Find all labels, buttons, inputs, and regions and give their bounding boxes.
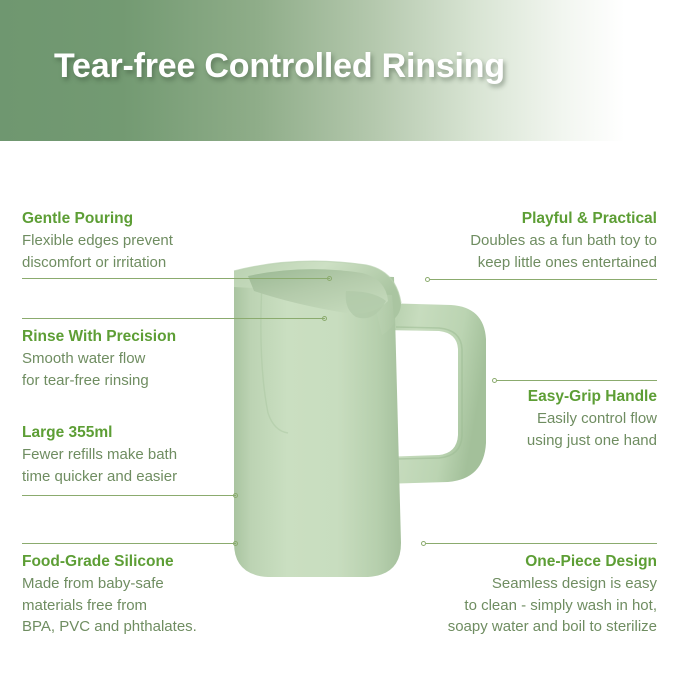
- connector-easy-grip-handle: [497, 380, 657, 381]
- feature-body-line: Made from baby-safe: [22, 573, 272, 595]
- feature-title: Rinse With Precision: [22, 326, 272, 347]
- feature-title: Easy-Grip Handle: [395, 386, 657, 407]
- feature-body: Fewer refills make bath time quicker and…: [22, 444, 272, 487]
- feature-body-line: Seamless design is easy: [395, 573, 657, 595]
- feature-body: Made from baby-safe materials free from …: [22, 573, 272, 638]
- feature-body: Flexible edges prevent discomfort or irr…: [22, 230, 272, 273]
- feature-body-line: time quicker and easier: [22, 466, 272, 488]
- feature-body-line: keep little ones entertained: [395, 252, 657, 274]
- feature-body-line: Fewer refills make bath: [22, 444, 272, 466]
- feature-body-line: Easily control flow: [395, 408, 657, 430]
- feature-body-line: soapy water and boil to sterilize: [395, 616, 657, 638]
- connector-large-355ml: [22, 495, 236, 496]
- feature-body-line: using just one hand: [395, 430, 657, 452]
- feature-body: Easily control flow using just one hand: [395, 408, 657, 451]
- connector-dot-easy-grip-handle: [492, 378, 497, 383]
- connector-playful-and-practical: [430, 279, 657, 280]
- feature-body-line: Flexible edges prevent: [22, 230, 272, 252]
- connector-one-piece-design: [426, 543, 657, 544]
- feature-title: Food-Grade Silicone: [22, 551, 272, 572]
- connector-dot-food-grade-silicone: [233, 541, 238, 546]
- feature-body-line: to clean - simply wash in hot,: [395, 595, 657, 617]
- connector-dot-playful-and-practical: [425, 277, 430, 282]
- feature-body: Seamless design is easy to clean - simpl…: [395, 573, 657, 638]
- feature-body-line: Doubles as a fun bath toy to: [395, 230, 657, 252]
- feature-title: One-Piece Design: [395, 551, 657, 572]
- connector-dot-rinse-with-precision: [322, 316, 327, 321]
- connector-rinse-with-precision: [22, 318, 325, 319]
- feature-body-line: for tear-free rinsing: [22, 370, 272, 392]
- feature-body-line: discomfort or irritation: [22, 252, 272, 274]
- feature-rinse-with-precision: Rinse With Precision Smooth water flow f…: [22, 326, 272, 391]
- connector-dot-large-355ml: [233, 493, 238, 498]
- feature-title: Large 355ml: [22, 422, 272, 443]
- feature-easy-grip-handle: Easy-Grip Handle Easily control flow usi…: [395, 386, 657, 451]
- feature-title: Playful & Practical: [395, 208, 657, 229]
- feature-body-line: BPA, PVC and phthalates.: [22, 616, 272, 638]
- feature-one-piece-design: One-Piece Design Seamless design is easy…: [395, 551, 657, 638]
- feature-playful-and-practical: Playful & Practical Doubles as a fun bat…: [395, 208, 657, 273]
- connector-dot-gentle-pouring: [327, 276, 332, 281]
- feature-large-355ml: Large 355ml Fewer refills make bath time…: [22, 422, 272, 487]
- feature-body: Doubles as a fun bath toy to keep little…: [395, 230, 657, 273]
- product-infographic: Tear-free Controlled Rinsing: [0, 0, 679, 679]
- page-title: Tear-free Controlled Rinsing: [54, 47, 505, 86]
- feature-food-grade-silicone: Food-Grade Silicone Made from baby-safe …: [22, 551, 272, 638]
- feature-body: Smooth water flow for tear-free rinsing: [22, 348, 272, 391]
- feature-body-line: Smooth water flow: [22, 348, 272, 370]
- feature-body-line: materials free from: [22, 595, 272, 617]
- feature-title: Gentle Pouring: [22, 208, 272, 229]
- header-banner: Tear-free Controlled Rinsing: [0, 0, 679, 141]
- connector-dot-one-piece-design: [421, 541, 426, 546]
- feature-gentle-pouring: Gentle Pouring Flexible edges prevent di…: [22, 208, 272, 273]
- connector-gentle-pouring: [22, 278, 330, 279]
- connector-food-grade-silicone: [22, 543, 236, 544]
